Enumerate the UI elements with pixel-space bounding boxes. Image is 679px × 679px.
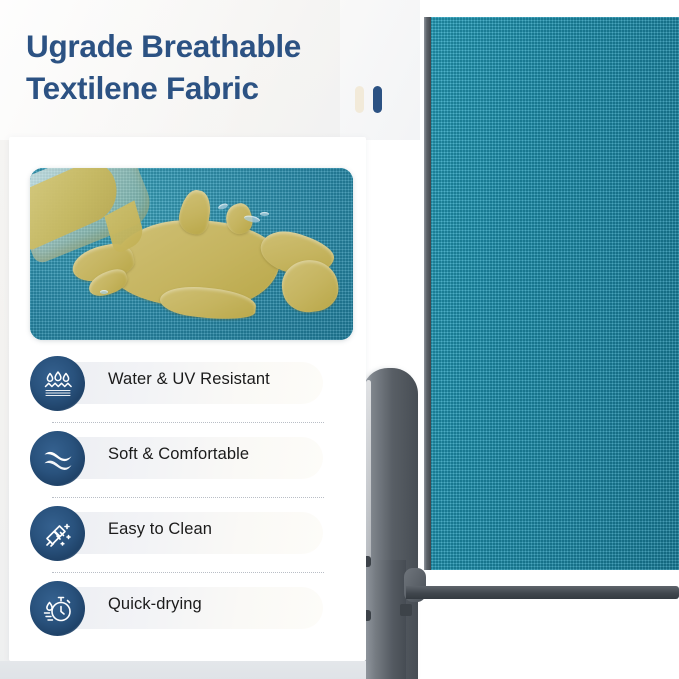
spill-demo-photo bbox=[30, 168, 353, 340]
feature-item-easy-to-clean: Easy to Clean bbox=[30, 502, 330, 577]
water-bead bbox=[260, 212, 269, 216]
feature-separator bbox=[52, 497, 324, 498]
chair-backrest-fabric bbox=[429, 17, 679, 570]
chair-backrest-frame-rail bbox=[424, 17, 431, 570]
feature-separator bbox=[52, 422, 324, 423]
water-bead bbox=[100, 290, 108, 294]
chair-screw bbox=[400, 604, 412, 616]
feature-label: Soft & Comfortable bbox=[108, 445, 249, 464]
chair-cross-rail bbox=[406, 586, 679, 599]
feature-item-quick-drying: Quick-drying bbox=[30, 577, 330, 652]
feature-item-water-uv-resistant: Water & UV Resistant bbox=[30, 352, 330, 427]
feature-label: Easy to Clean bbox=[108, 520, 212, 539]
page-title: Ugrade Breathable Textilene Fabric bbox=[26, 26, 371, 110]
feature-item-soft-comfortable: Soft & Comfortable bbox=[30, 427, 330, 502]
cleaning-brush-sparkle-icon bbox=[30, 506, 85, 561]
feature-list: Water & UV Resistant Soft & Comfortable bbox=[30, 352, 330, 652]
feature-separator bbox=[52, 572, 324, 573]
accent-bar-navy bbox=[373, 86, 382, 113]
bottom-background-strip bbox=[0, 661, 366, 679]
wave-comfort-icon bbox=[30, 431, 85, 486]
stopwatch-droplet-icon bbox=[30, 581, 85, 636]
feature-label: Water & UV Resistant bbox=[108, 370, 270, 389]
title-accent-marks bbox=[355, 86, 395, 116]
water-drops-repellent-icon bbox=[30, 356, 85, 411]
accent-bar-cream bbox=[355, 86, 364, 113]
feature-label: Quick-drying bbox=[108, 595, 202, 614]
product-feature-banner: Ugrade Breathable Textilene Fabric bbox=[0, 0, 679, 679]
